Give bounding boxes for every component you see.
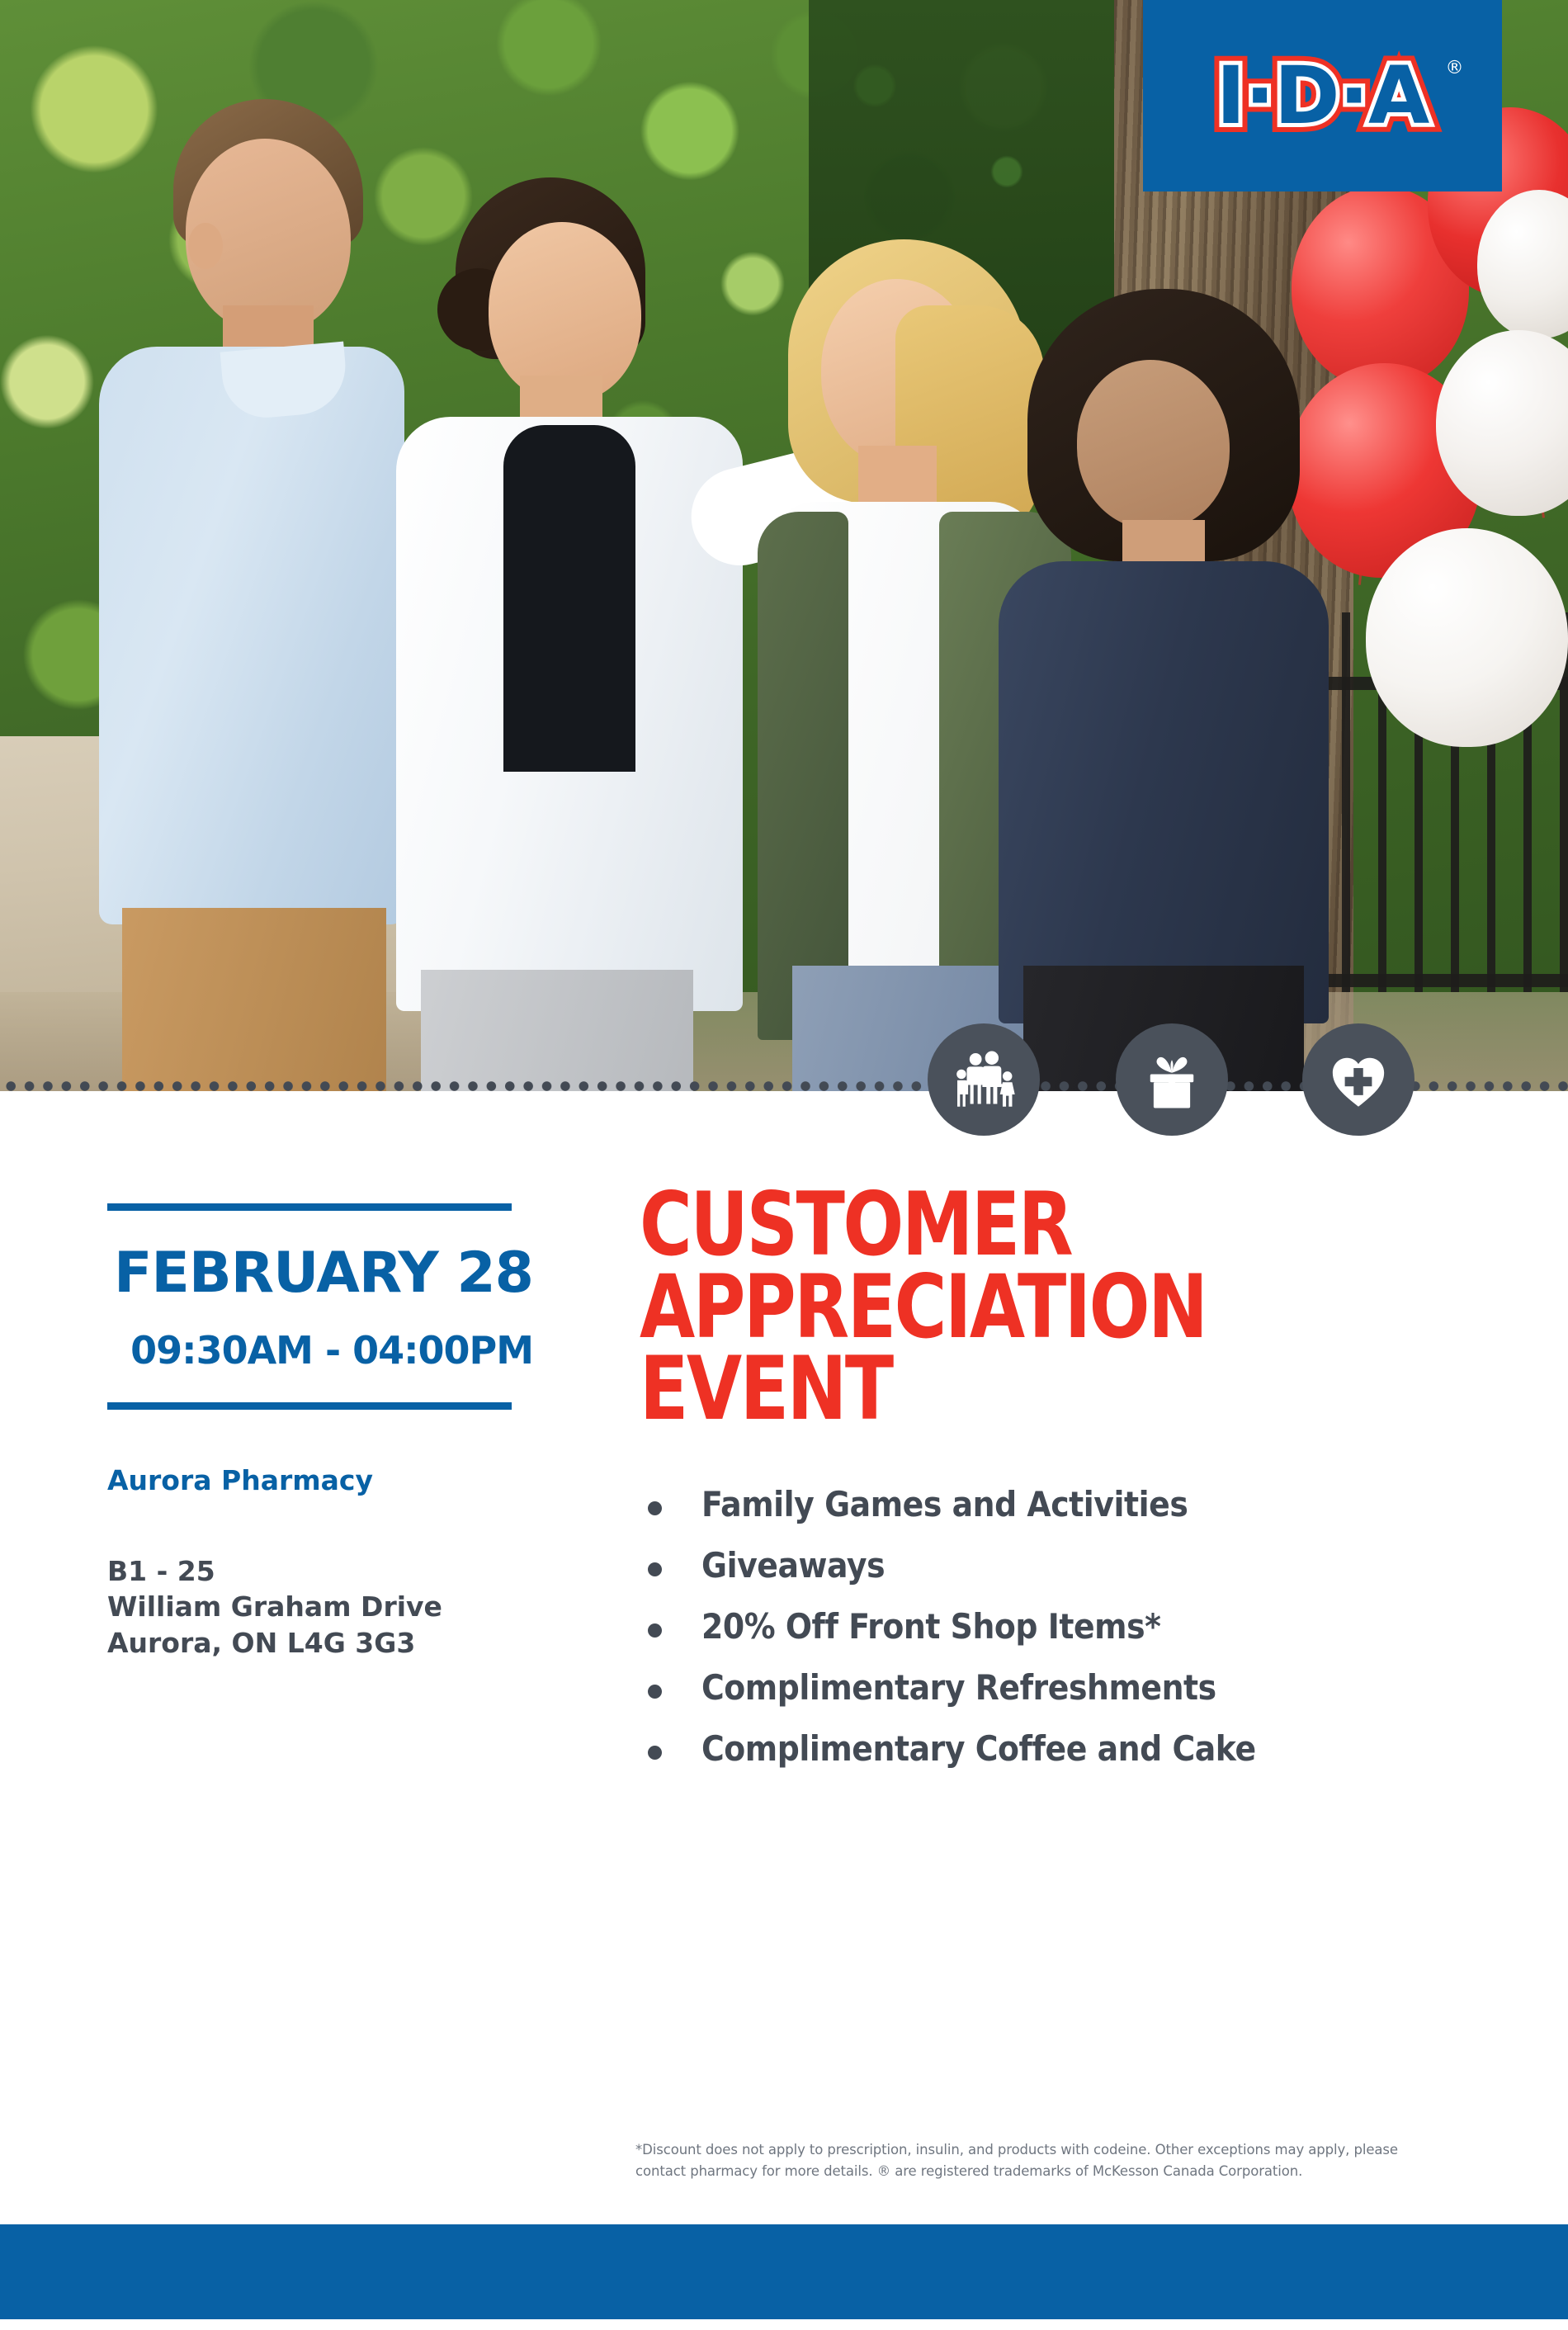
- event-time: 09:30AM - 04:00PM: [107, 1331, 536, 1369]
- main-column: CUSTOMER APPRECIATION EVENT Family Games…: [640, 1184, 1514, 1792]
- address-line-3: Aurora, ON L4G 3G3: [107, 1625, 536, 1661]
- heart-plus-icon: [1302, 1023, 1415, 1136]
- feature-list: Family Games and Activities Giveaways 20…: [640, 1486, 1514, 1767]
- bullet-icon: [648, 1746, 662, 1760]
- event-date: FEBRUARY 28: [107, 1245, 536, 1302]
- headline-line-3: EVENT: [640, 1348, 1357, 1430]
- list-item: Complimentary Refreshments: [640, 1670, 1514, 1706]
- list-item-label: Complimentary Refreshments: [701, 1670, 1216, 1706]
- bullet-icon: [648, 1685, 662, 1699]
- poster-body: FEBRUARY 28 09:30AM - 04:00PM Aurora Pha…: [0, 1091, 1568, 2224]
- bullet-icon: [648, 1623, 662, 1638]
- bullet-icon: [648, 1562, 662, 1576]
- list-item-label: 20% Off Front Shop Items*: [701, 1609, 1160, 1645]
- list-item-label: Complimentary Coffee and Cake: [701, 1731, 1256, 1767]
- pharmacist: [396, 177, 743, 1011]
- bullet-icon: [648, 1501, 662, 1515]
- list-item-label: Giveaways: [701, 1548, 885, 1584]
- event-details-column: FEBRUARY 28 09:30AM - 04:00PM Aurora Pha…: [107, 1203, 536, 1661]
- headline-line-2: APPRECIATION: [640, 1266, 1357, 1349]
- gift-icon: [1116, 1023, 1228, 1136]
- footer-white-strip: [0, 2319, 1568, 2330]
- family-icon: [928, 1023, 1040, 1136]
- headline-line-1: CUSTOMER: [640, 1184, 1357, 1266]
- feature-icons: [908, 1014, 1485, 1162]
- list-item: 20% Off Front Shop Items*: [640, 1609, 1514, 1645]
- ida-logo-fill: I·D·A: [1187, 46, 1459, 145]
- address-line-1: B1 - 25: [107, 1553, 536, 1590]
- footer-bar: [0, 2224, 1568, 2319]
- customer-dark-haired-woman: [999, 289, 1329, 1015]
- disclaimer-text: *Discount does not apply to prescription…: [635, 2139, 1428, 2181]
- list-item: Giveaways: [640, 1548, 1514, 1584]
- customer-man: [99, 99, 413, 1007]
- page-title: CUSTOMER APPRECIATION EVENT: [640, 1184, 1357, 1430]
- pharmacy-name: Aurora Pharmacy: [107, 1464, 536, 1497]
- list-item-label: Family Games and Activities: [701, 1486, 1188, 1523]
- rule-bottom: [107, 1402, 512, 1410]
- registered-mark-icon: ®: [1446, 58, 1464, 78]
- ida-logo-wordmark: I·D·A I·D·A ®: [1187, 46, 1459, 145]
- list-item: Family Games and Activities: [640, 1486, 1514, 1523]
- white-balloon: [1366, 528, 1568, 747]
- rule-top: [107, 1203, 512, 1211]
- list-item: Complimentary Coffee and Cake: [640, 1731, 1514, 1767]
- pharmacy-address: B1 - 25 William Graham Drive Aurora, ON …: [107, 1553, 536, 1662]
- ida-logo: I·D·A I·D·A ®: [1143, 0, 1502, 191]
- address-line-2: William Graham Drive: [107, 1589, 536, 1625]
